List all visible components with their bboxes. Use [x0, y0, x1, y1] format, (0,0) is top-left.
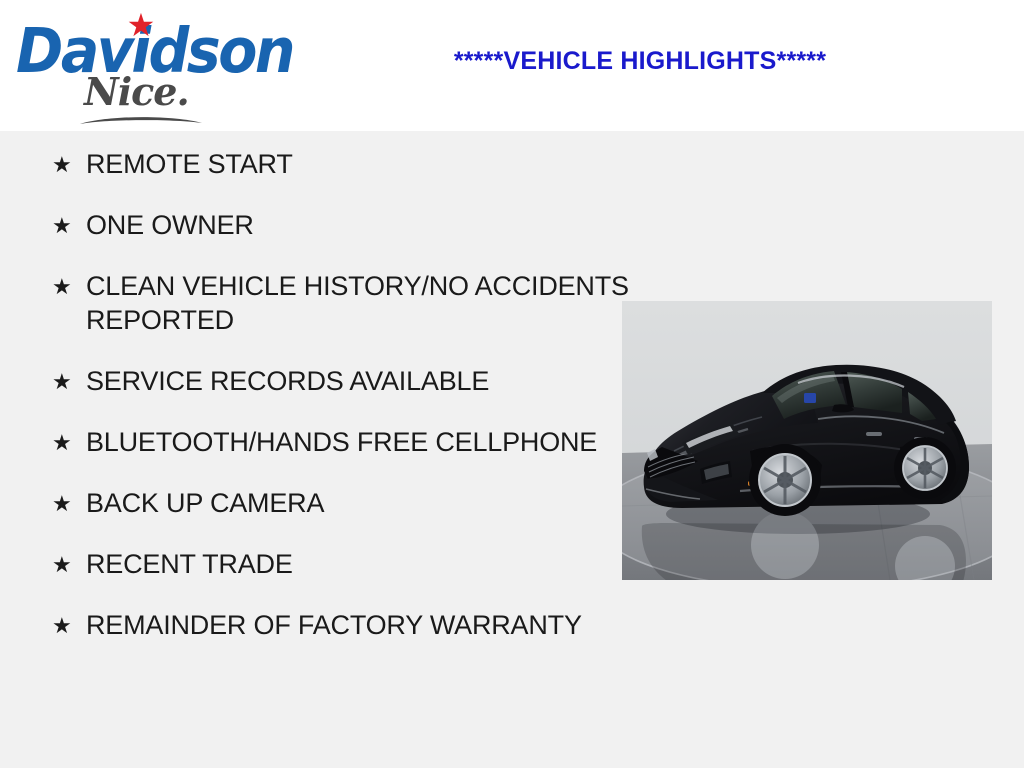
- star-bullet-icon: ★: [52, 148, 72, 182]
- vehicle-highlights-list: ★ REMOTE START ★ ONE OWNER ★ CLEAN VEHIC…: [0, 131, 650, 669]
- list-item-label: REMAINDER OF FACTORY WARRANTY: [86, 608, 650, 642]
- star-bullet-icon: ★: [52, 426, 72, 460]
- star-bullet-icon: ★: [52, 270, 72, 304]
- list-item-label: SERVICE RECORDS AVAILABLE: [86, 364, 650, 398]
- page-title: *****VEHICLE HIGHLIGHTS*****: [270, 46, 1010, 76]
- star-icon: ★: [126, 10, 156, 40]
- list-item-label: ONE OWNER: [86, 208, 650, 242]
- list-item-label: BACK UP CAMERA: [86, 486, 650, 520]
- logo-script-text: Nice.: [84, 72, 189, 112]
- star-bullet-icon: ★: [52, 209, 72, 243]
- list-item: ★ SERVICE RECORDS AVAILABLE: [40, 364, 650, 398]
- list-item: ★ REMAINDER OF FACTORY WARRANTY: [40, 608, 650, 642]
- list-item-label: CLEAN VEHICLE HISTORY/NO ACCIDENTS REPOR…: [86, 269, 650, 337]
- list-item: ★ BLUETOOTH/HANDS FREE CELLPHONE: [40, 425, 650, 459]
- list-item: ★ REMOTE START: [40, 147, 650, 181]
- dealer-logo: Davidson ★ Nice.: [16, 6, 266, 124]
- list-item-label: REMOTE START: [86, 147, 650, 181]
- list-item: ★ RECENT TRADE: [40, 547, 650, 581]
- list-item-label: RECENT TRADE: [86, 547, 650, 581]
- star-bullet-icon: ★: [52, 487, 72, 521]
- logo-swoosh-icon: [78, 114, 204, 126]
- star-bullet-icon: ★: [52, 609, 72, 643]
- star-bullet-icon: ★: [52, 365, 72, 399]
- vehicle-photo: [622, 301, 992, 580]
- list-item: ★ CLEAN VEHICLE HISTORY/NO ACCIDENTS REP…: [40, 269, 650, 337]
- list-item: ★ ONE OWNER: [40, 208, 650, 242]
- star-bullet-icon: ★: [52, 548, 72, 582]
- list-item: ★ BACK UP CAMERA: [40, 486, 650, 520]
- list-item-label: BLUETOOTH/HANDS FREE CELLPHONE: [86, 425, 650, 459]
